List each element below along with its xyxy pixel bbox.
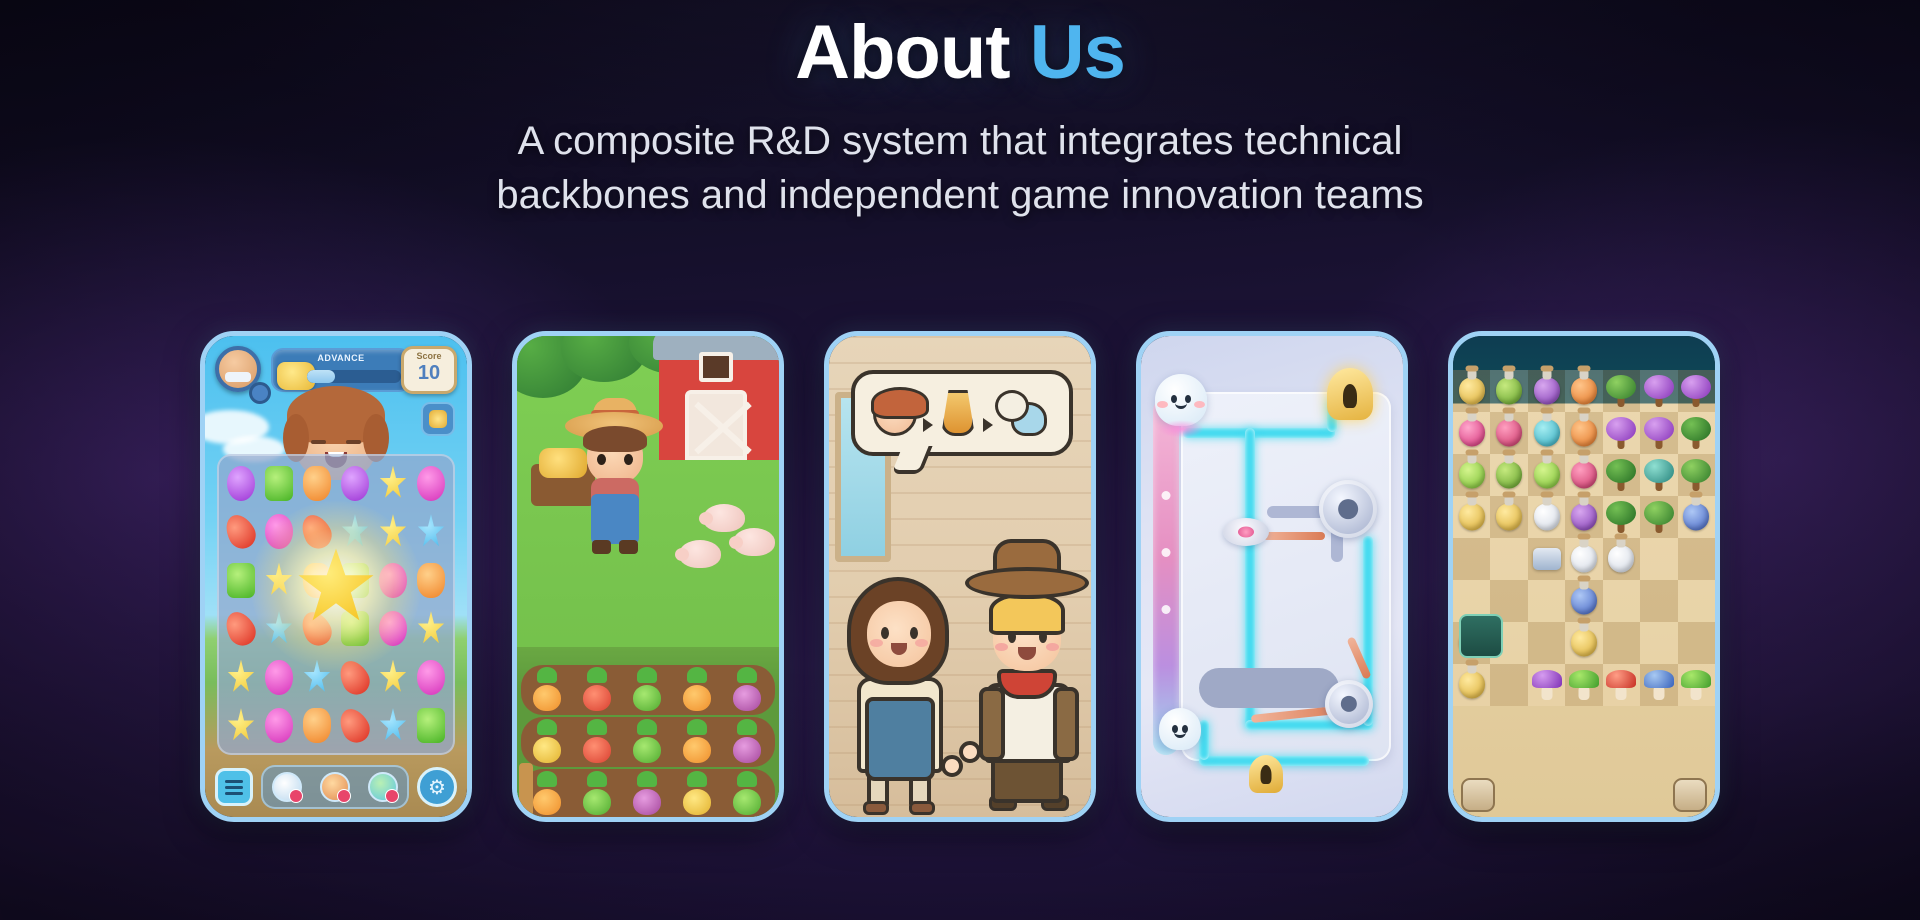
gem-blue[interactable] [341, 514, 368, 549]
match3-cell[interactable] [413, 703, 449, 750]
boy-cheek-left [995, 643, 1008, 651]
potion-item[interactable] [1496, 378, 1522, 405]
potion-item[interactable] [1496, 420, 1522, 447]
crop-vegetable [583, 789, 611, 815]
gem-orange[interactable] [417, 563, 444, 598]
potion-item[interactable] [1571, 420, 1597, 447]
match3-cell[interactable] [223, 606, 259, 653]
crop-leaf [637, 719, 657, 735]
gem-red[interactable] [335, 655, 376, 699]
gem-yellow[interactable] [417, 611, 444, 646]
potion-item[interactable] [1496, 504, 1522, 531]
crop-row[interactable] [521, 717, 775, 767]
crop-red[interactable] [577, 723, 617, 763]
merge-cell[interactable] [1528, 622, 1565, 664]
boy-vest-right [1053, 687, 1079, 761]
crop-orange[interactable] [677, 671, 717, 711]
girl-cheek-right [915, 639, 928, 647]
tree-item[interactable] [1644, 417, 1674, 449]
girl-apron [865, 697, 935, 781]
gem-pink[interactable] [417, 660, 444, 695]
pig-animal[interactable] [703, 504, 745, 532]
crop-vegetable [583, 737, 611, 763]
ghost-body [1159, 708, 1201, 750]
girl-cheek-left [870, 639, 883, 647]
crop-vegetable [633, 685, 661, 711]
merge-cell[interactable] [1603, 622, 1640, 664]
potion-item[interactable] [1459, 462, 1485, 489]
merge-cell[interactable] [1640, 622, 1677, 664]
boy-vest-left [979, 687, 1005, 761]
potion-item[interactable] [1571, 462, 1597, 489]
gem-yellow[interactable] [227, 660, 254, 695]
crop-leaf [737, 771, 757, 787]
merge-cell[interactable] [1490, 664, 1527, 706]
gem-pink[interactable] [417, 466, 444, 501]
crop-leaf [537, 719, 557, 735]
game-card-merge-potion-grid-game[interactable] [1448, 331, 1720, 822]
boy-hair [989, 593, 1065, 635]
story-screen [829, 336, 1091, 817]
match3-cell[interactable] [261, 509, 297, 556]
gem-yellow[interactable] [379, 514, 406, 549]
match3-cell[interactable] [375, 557, 411, 604]
gear-icon[interactable] [1319, 480, 1377, 538]
merge-cell[interactable] [1678, 664, 1715, 706]
inventory-button[interactable] [1461, 778, 1495, 812]
mushroom-stem [1578, 686, 1589, 700]
gem-pink[interactable] [265, 708, 292, 743]
arrow-icon [983, 418, 993, 432]
merge-cell[interactable] [1565, 370, 1602, 412]
potion-item[interactable] [1608, 546, 1634, 573]
gem-pink[interactable] [265, 660, 292, 695]
girl-eye-left [881, 627, 889, 639]
list-menu-icon[interactable] [215, 768, 253, 806]
crop-green[interactable] [627, 671, 667, 711]
gem-blue[interactable] [303, 660, 330, 695]
match3-cell[interactable] [223, 557, 259, 604]
tree-item[interactable] [1606, 417, 1636, 449]
progress-fill [307, 370, 335, 383]
mushroom-stem [1541, 686, 1552, 700]
merge-cell[interactable] [1453, 664, 1490, 706]
crop-vegetable [733, 685, 761, 711]
crop-vegetable [633, 789, 661, 815]
match3-cell[interactable] [299, 460, 335, 507]
tree-canopy [1644, 417, 1674, 441]
tree-canopy [1606, 459, 1636, 483]
crop-green[interactable] [627, 723, 667, 763]
gem-purple[interactable] [341, 466, 368, 501]
match3-cell[interactable] [223, 509, 259, 556]
match3-cell[interactable] [375, 509, 411, 556]
crop-yellow[interactable] [677, 775, 717, 815]
character-portrait-icon [873, 392, 917, 436]
booster-hammer-icon[interactable] [272, 772, 302, 802]
barn-loft-window [699, 352, 733, 382]
gem-red[interactable] [221, 607, 262, 651]
potion-item[interactable] [1571, 504, 1597, 531]
pet-chat-icon [995, 390, 1047, 436]
tree-item[interactable] [1606, 501, 1636, 533]
merge-cell[interactable] [1678, 496, 1715, 538]
mushroom-cap [1606, 670, 1636, 688]
merge-cell[interactable] [1528, 580, 1565, 622]
potion-item[interactable] [1683, 504, 1709, 531]
merge-cell[interactable] [1565, 622, 1602, 664]
match3-cell[interactable] [413, 460, 449, 507]
potion-item[interactable] [1571, 378, 1597, 405]
match3-cell[interactable] [337, 654, 373, 701]
merge-cell[interactable] [1678, 622, 1715, 664]
girl-shoe-right [909, 801, 935, 815]
crop-leaf [537, 667, 557, 683]
ghost-character-top[interactable] [1155, 374, 1207, 426]
tree-item[interactable] [1644, 501, 1674, 533]
merge-cell[interactable] [1678, 454, 1715, 496]
gem-pink[interactable] [379, 611, 406, 646]
crop-row[interactable] [521, 665, 775, 715]
tree-item[interactable] [1681, 459, 1711, 491]
match3-cell[interactable] [337, 509, 373, 556]
potion-item[interactable] [1534, 462, 1560, 489]
mushroom-cap [1532, 670, 1562, 688]
tree-canopy [1606, 375, 1636, 399]
glowing-pipe-horizontal[interactable] [1199, 756, 1369, 766]
merge-cell[interactable] [1490, 538, 1527, 580]
page-title: About Us [0, 14, 1920, 92]
mushroom-cap [1681, 670, 1711, 688]
tree-canopy [1644, 501, 1674, 525]
merge-cell[interactable] [1603, 664, 1640, 706]
gem-green[interactable] [227, 563, 254, 598]
gem-pink[interactable] [379, 563, 406, 598]
merge-cell[interactable] [1528, 496, 1565, 538]
merge-cell[interactable] [1490, 412, 1527, 454]
page-title-about: About [795, 10, 1009, 95]
farmer-boot-left [592, 540, 611, 554]
score-value: 10 [404, 362, 454, 385]
gem-orange[interactable] [303, 466, 330, 501]
gem-green[interactable] [265, 466, 292, 501]
merge-cell[interactable] [1490, 454, 1527, 496]
merge-cell[interactable] [1603, 580, 1640, 622]
merge-cell[interactable] [1640, 496, 1677, 538]
ghost-character-bottom[interactable] [1159, 708, 1201, 750]
gem-red[interactable] [297, 510, 338, 554]
merge-cell[interactable] [1565, 496, 1602, 538]
match3-cell[interactable] [223, 703, 259, 750]
girl-character [843, 559, 957, 817]
girl-shoe-left [863, 801, 889, 815]
gem-blue[interactable] [265, 611, 292, 646]
merge-cell[interactable] [1490, 370, 1527, 412]
potion-item[interactable] [1534, 378, 1560, 405]
farmer-hair [583, 426, 647, 452]
crop-row[interactable] [521, 769, 775, 817]
crop-leaf [587, 771, 607, 787]
pivot-node[interactable] [1223, 518, 1269, 546]
crop-vegetable [533, 685, 561, 711]
crop-orange[interactable] [677, 723, 717, 763]
match3-cell[interactable] [413, 509, 449, 556]
gem-purple[interactable] [227, 466, 254, 501]
subtitle-line-2: backbones and independent game innovatio… [300, 168, 1620, 222]
booster-star-icon[interactable] [368, 772, 398, 802]
merge-cell[interactable] [1640, 538, 1677, 580]
merge-cell[interactable] [1453, 370, 1490, 412]
mushroom-item[interactable] [1569, 670, 1599, 700]
match3-cell[interactable] [375, 654, 411, 701]
merge-cell[interactable] [1528, 538, 1565, 580]
shop-button[interactable] [1673, 778, 1707, 812]
gem-yellow[interactable] [265, 563, 292, 598]
tree-item[interactable] [1606, 459, 1636, 491]
crop-leaf [687, 667, 707, 683]
merge-item-grid[interactable] [1453, 370, 1715, 817]
farm-screen [517, 336, 779, 817]
game-card-scifi-pipe-puzzle-game[interactable] [1136, 331, 1408, 822]
merge-cell[interactable] [1603, 538, 1640, 580]
match3-cell[interactable] [413, 606, 449, 653]
merge-cell[interactable] [1678, 580, 1715, 622]
boy-hand [959, 741, 981, 763]
merge-cell[interactable] [1490, 496, 1527, 538]
crop-leaf [737, 719, 757, 735]
gem-pink[interactable] [265, 514, 292, 549]
glowing-pipe-horizontal[interactable] [1183, 428, 1335, 438]
merge-cell[interactable] [1528, 370, 1565, 412]
crop-vegetable [733, 789, 761, 815]
tree-canopy [1644, 459, 1674, 483]
gem-blue[interactable] [417, 514, 444, 549]
crop-purple[interactable] [627, 775, 667, 815]
gem-red[interactable] [335, 704, 376, 748]
merge-cell[interactable] [1565, 412, 1602, 454]
score-label: Score [404, 351, 454, 361]
ghost-cheek-right [1194, 401, 1205, 408]
crop-leaf [687, 719, 707, 735]
merge-cell[interactable] [1640, 664, 1677, 706]
cowboy-boy-character [967, 551, 1089, 817]
crop-green[interactable] [577, 775, 617, 815]
crop-leaf [637, 771, 657, 787]
tree-item[interactable] [1644, 375, 1674, 407]
arrow-icon [923, 418, 933, 432]
girl-hand [941, 755, 963, 777]
merge-cell[interactable] [1453, 538, 1490, 580]
merge-cell[interactable] [1603, 454, 1640, 496]
match3-cell[interactable] [261, 557, 297, 604]
match3-game-board[interactable] [217, 454, 455, 755]
match3-cell[interactable] [337, 703, 373, 750]
game-card-farm-simulation-game[interactable] [512, 331, 784, 822]
farmer-eye-left [597, 454, 606, 465]
connector-rod [1263, 532, 1325, 540]
potion-item[interactable] [1459, 420, 1485, 447]
gem-red[interactable] [221, 510, 262, 554]
match3-screen: ADVANCE Score 10 [205, 336, 467, 817]
merge-cell[interactable] [1453, 412, 1490, 454]
match3-cell[interactable] [413, 557, 449, 604]
merge-bottom-bar [1453, 773, 1715, 817]
merge-cell[interactable] [1565, 538, 1602, 580]
match3-cell[interactable] [261, 606, 297, 653]
tree-item[interactable] [1606, 375, 1636, 407]
merge-cell[interactable] [1565, 454, 1602, 496]
crop-orange[interactable] [527, 775, 567, 815]
girl-face [867, 601, 931, 667]
board-side-panel[interactable] [1459, 614, 1503, 658]
tree-item[interactable] [1681, 375, 1711, 407]
crop-purple[interactable] [727, 723, 767, 763]
merge-cell[interactable] [1603, 496, 1640, 538]
crop-vegetable [533, 789, 561, 815]
gem-yellow[interactable] [379, 466, 406, 501]
rail-dot [1162, 605, 1171, 614]
match3-cell[interactable] [261, 654, 297, 701]
gem-yellow[interactable] [227, 708, 254, 743]
chest-item[interactable] [1533, 548, 1561, 570]
mushroom-item[interactable] [1532, 670, 1562, 700]
potion-item[interactable] [1534, 504, 1560, 531]
merge-cell[interactable] [1453, 454, 1490, 496]
crop-orange[interactable] [527, 671, 567, 711]
gem-orange[interactable] [303, 708, 330, 743]
potion-item[interactable] [1459, 378, 1485, 405]
game-showcase-row: ADVANCE Score 10 [0, 331, 1920, 822]
merge-cell[interactable] [1640, 412, 1677, 454]
tree-canopy [1681, 375, 1711, 399]
pipe-puzzle-screen [1141, 336, 1403, 817]
crop-leaf [737, 667, 757, 683]
potion-item[interactable] [1459, 672, 1485, 699]
crop-vegetable [683, 789, 711, 815]
gem-green[interactable] [417, 708, 444, 743]
ghost-eye-left [1171, 395, 1177, 403]
girl-mouth [891, 643, 907, 655]
game-card-match-3-candy-game[interactable]: ADVANCE Score 10 [200, 331, 472, 822]
merge-cell[interactable] [1603, 412, 1640, 454]
match3-cell[interactable] [299, 654, 335, 701]
potion-item[interactable] [1571, 630, 1597, 657]
pig-animal[interactable] [679, 540, 721, 568]
crop-red[interactable] [577, 671, 617, 711]
keyhole-lock-large[interactable] [1327, 368, 1373, 420]
match3-cell[interactable] [375, 606, 411, 653]
boy-cheek-right [1046, 643, 1059, 651]
gem-yellow[interactable] [379, 660, 406, 695]
tree-item[interactable] [1681, 417, 1711, 449]
potion-item[interactable] [1496, 462, 1522, 489]
merge-cell[interactable] [1528, 664, 1565, 706]
crop-leaf [587, 719, 607, 735]
match3-cell[interactable] [375, 703, 411, 750]
match3-cell[interactable] [337, 460, 373, 507]
mushroom-item[interactable] [1644, 670, 1674, 700]
match3-cell[interactable] [223, 654, 259, 701]
score-panel: Score 10 [401, 346, 457, 394]
tree-item[interactable] [1644, 459, 1674, 491]
merge-cell[interactable] [1640, 370, 1677, 412]
energy-rail [1153, 398, 1179, 755]
merge-cell[interactable] [1640, 454, 1677, 496]
merge-cell[interactable] [1640, 580, 1677, 622]
crop-purple[interactable] [727, 671, 767, 711]
cowboy-hat-brim [965, 567, 1089, 599]
farmer-overalls [591, 494, 639, 544]
ghost-glow [1158, 420, 1204, 438]
merge-cell[interactable] [1565, 580, 1602, 622]
page-subtitle: A composite R&D system that integrates t… [300, 114, 1620, 223]
booster-bomb-icon[interactable] [320, 772, 350, 802]
merge-cell[interactable] [1453, 496, 1490, 538]
merge-cell[interactable] [1678, 370, 1715, 412]
merge-cell[interactable] [1565, 664, 1602, 706]
game-card-narrative-story-game[interactable] [824, 331, 1096, 822]
rail-dot [1162, 548, 1171, 557]
match3-cell[interactable] [223, 460, 259, 507]
match3-cell[interactable] [299, 509, 335, 556]
match3-cell[interactable] [261, 703, 297, 750]
match3-cell[interactable] [413, 654, 449, 701]
gear-icon[interactable]: ⚙ [417, 767, 457, 807]
potion-item[interactable] [1534, 420, 1560, 447]
keyhole-lock-small[interactable] [1249, 755, 1283, 793]
speech-bubble [851, 370, 1073, 456]
potion-item[interactable] [1459, 504, 1485, 531]
mushroom-item[interactable] [1681, 670, 1711, 700]
match3-cell[interactable] [299, 703, 335, 750]
pet-face-shape [995, 390, 1029, 422]
merge-cell[interactable] [1603, 370, 1640, 412]
match3-cell[interactable] [375, 460, 411, 507]
bonus-side-button[interactable] [421, 402, 455, 436]
booster-tray [261, 765, 409, 809]
barn-door [685, 390, 747, 460]
gear-icon[interactable] [1325, 680, 1373, 728]
gem-blue[interactable] [379, 708, 406, 743]
tree-canopy [1606, 501, 1636, 525]
crop-yellow[interactable] [527, 723, 567, 763]
tree-canopy [1606, 417, 1636, 441]
merge-cell[interactable] [1528, 454, 1565, 496]
crop-green[interactable] [727, 775, 767, 815]
crop-vegetable [683, 737, 711, 763]
boy-red-bandana [997, 669, 1057, 699]
crop-vegetable [683, 685, 711, 711]
mushroom-stem [1691, 686, 1702, 700]
progress-track [307, 370, 401, 383]
page-title-us: Us [1030, 10, 1125, 95]
crop-vegetable [633, 737, 661, 763]
potion-item[interactable] [1571, 588, 1597, 615]
merge-cell[interactable] [1678, 412, 1715, 454]
potion-item[interactable] [1571, 546, 1597, 573]
match3-cell[interactable] [261, 460, 297, 507]
crop-field[interactable] [517, 647, 779, 817]
pig-animal[interactable] [733, 528, 775, 556]
red-barn [659, 342, 779, 460]
crop-vegetable [583, 685, 611, 711]
tree-canopy [1644, 375, 1674, 399]
merge-cell[interactable] [1528, 412, 1565, 454]
mushroom-item[interactable] [1606, 670, 1636, 700]
merge-cell[interactable] [1678, 538, 1715, 580]
crop-vegetable [733, 737, 761, 763]
ghost-body [1155, 374, 1207, 426]
